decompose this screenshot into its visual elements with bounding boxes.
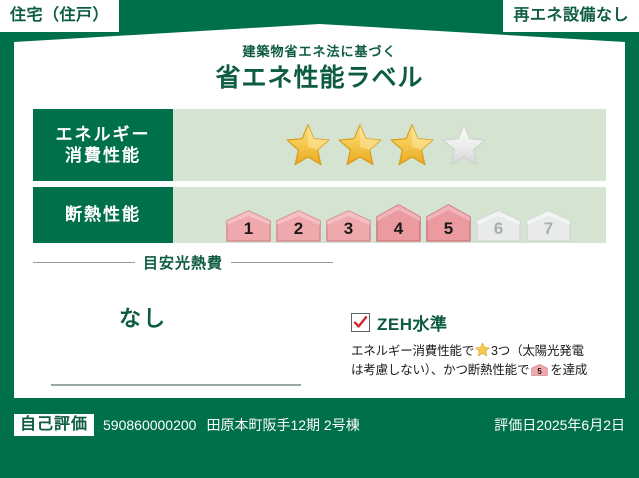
insulation-performance-label-text: 断熱性能: [65, 204, 141, 225]
energy-cost-heading: 目安光熱費: [33, 252, 333, 273]
svg-text:5: 5: [538, 367, 543, 376]
insulation-performance-label: 断熱性能: [33, 187, 173, 243]
section-divider: [51, 384, 301, 386]
insulation-badge-number: 5: [425, 220, 472, 237]
insulation-badge: 2: [275, 209, 322, 243]
insulation-badge-number: 7: [525, 220, 572, 237]
zeh-title: ZEH水準: [377, 310, 448, 335]
zeh-desc-star-count: 3つ（太陽光発電: [491, 344, 584, 358]
energy-cost-heading-text: 目安光熱費: [143, 252, 223, 273]
insulation-badge-number: 1: [225, 220, 272, 237]
insulation-badge-number: 3: [325, 220, 372, 237]
insulation-badge: 1: [225, 209, 272, 243]
label-subtitle: 建築物省エネ法に基づく: [14, 44, 625, 60]
insulation-badge: 4: [375, 203, 422, 243]
energy-performance-label-line1: エネルギー: [56, 124, 151, 145]
insulation-badge: 7: [525, 209, 572, 243]
star-icon: [285, 122, 331, 168]
evaluation-date: 評価日2025年6月2日: [494, 415, 625, 435]
zeh-description: エネルギー消費性能で3つ（太陽光発電は考慮しない）、かつ断熱性能で5を達成: [351, 342, 609, 380]
house-badge-icon: 5: [531, 363, 548, 377]
footer-inner: 自己評価 590860000200 田原本町阪手12期 2号棟 評価日2025年…: [14, 412, 625, 438]
footer: 自己評価 590860000200 田原本町阪手12期 2号棟 評価日2025年…: [0, 398, 639, 478]
star-rating: [173, 122, 487, 168]
rule-right: [231, 262, 333, 263]
insulation-badge: 5: [425, 203, 472, 243]
self-assessment-badge: 自己評価: [14, 414, 94, 436]
insulation-performance-value: 1 2 3: [173, 187, 606, 243]
energy-cost-block: 目安光熱費 なし: [33, 252, 333, 333]
zeh-desc-part2: は考慮しない）、かつ断熱性能で: [351, 363, 529, 377]
title-block: 建築物省エネ法に基づく 省エネ性能ラベル: [14, 44, 625, 94]
insulation-badge-number: 2: [275, 220, 322, 237]
star-icon-empty: [441, 122, 487, 168]
check-icon: [353, 315, 368, 330]
energy-performance-label: 住宅（住戸） 再エネ設備なし 建築物省エネ法に基づく 省エネ性能ラベル エネルギ…: [0, 0, 639, 478]
lower-section: 目安光熱費 なし ZEH水準 エネルギー消費性能で3つ（太陽光発電は考慮しない）: [33, 252, 606, 412]
renewable-energy-tag: 再エネ設備なし: [503, 0, 639, 32]
label-panel: 建築物省エネ法に基づく 省エネ性能ラベル エネルギー 消費性能: [14, 24, 625, 398]
insulation-badge: 6: [475, 209, 522, 243]
insulation-performance-row: 断熱性能 1: [33, 187, 606, 243]
star-icon: [389, 122, 435, 168]
energy-performance-label: エネルギー 消費性能: [33, 109, 173, 181]
star-icon: [337, 122, 383, 168]
insulation-badge-strip: 1 2 3: [173, 187, 572, 243]
energy-performance-label-line2: 消費性能: [65, 145, 141, 166]
label-id: 590860000200: [103, 417, 196, 433]
star-icon: [475, 342, 490, 357]
zeh-desc-part3: を達成: [550, 363, 587, 377]
property-address: 田原本町阪手12期 2号棟: [206, 415, 359, 435]
building-type-tag: 住宅（住戸）: [0, 0, 119, 32]
rule-left: [33, 262, 135, 263]
energy-performance-value: [173, 109, 606, 181]
page-title: 省エネ性能ラベル: [14, 63, 625, 94]
zeh-block: ZEH水準 エネルギー消費性能で3つ（太陽光発電は考慮しない）、かつ断熱性能で5…: [351, 310, 609, 380]
zeh-desc-part1: エネルギー消費性能で: [351, 344, 474, 358]
insulation-badge-number: 4: [375, 220, 422, 237]
energy-cost-value: なし: [33, 301, 333, 333]
zeh-title-row: ZEH水準: [351, 310, 609, 335]
zeh-checkbox[interactable]: [351, 313, 370, 332]
insulation-badge: 3: [325, 209, 372, 243]
insulation-badge-number: 6: [475, 220, 522, 237]
energy-performance-row: エネルギー 消費性能: [33, 109, 606, 181]
